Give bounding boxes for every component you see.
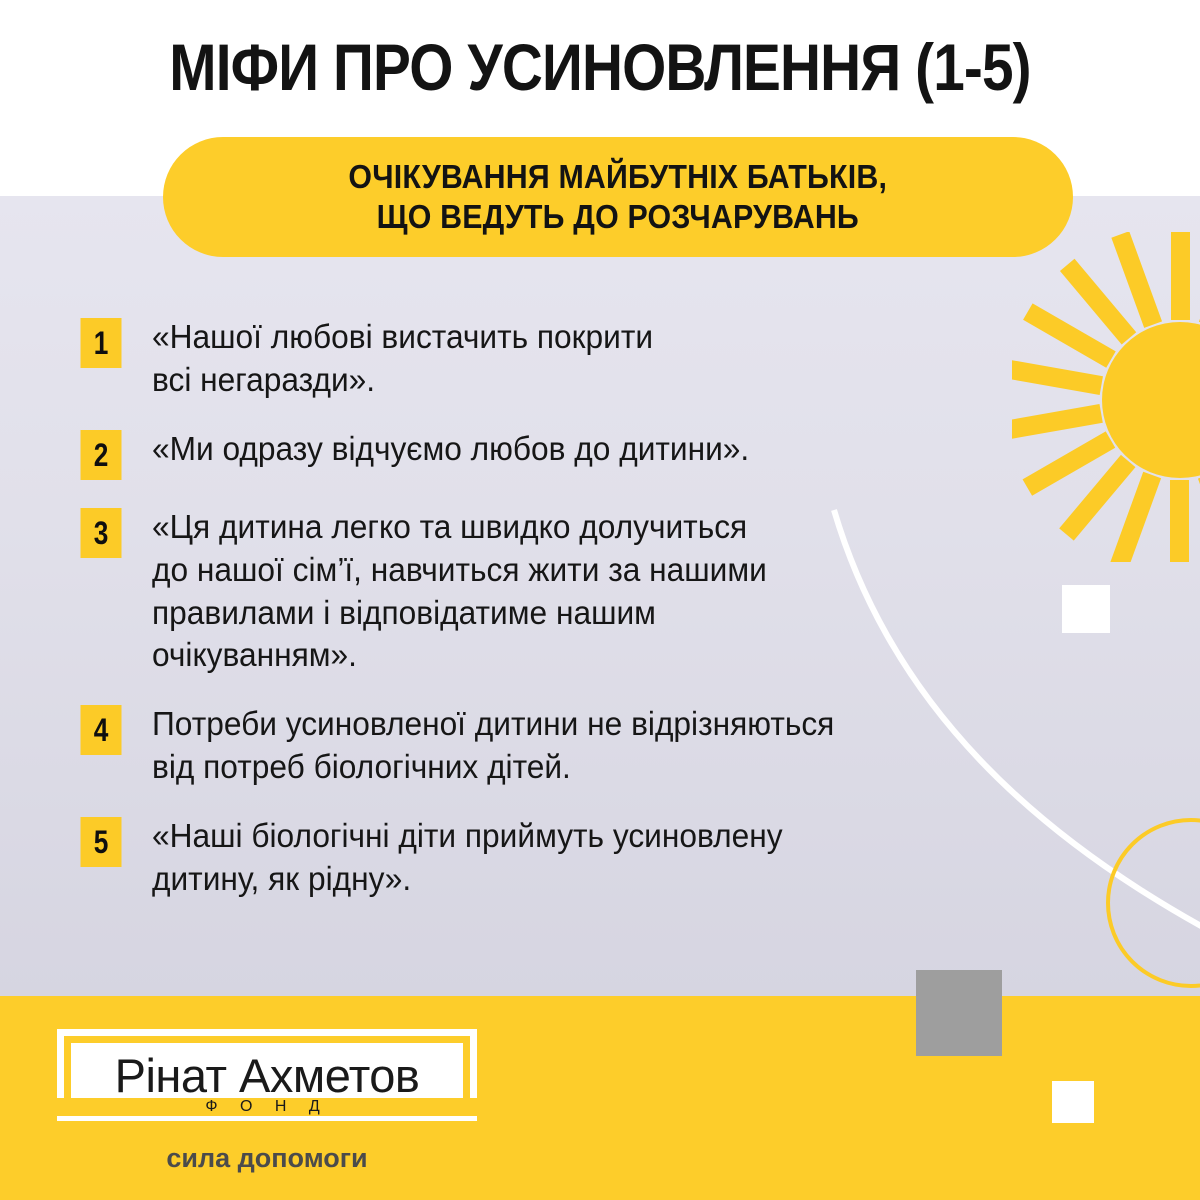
myth-text: «Ця дитина легко та швидко долучиться до…: [152, 506, 1097, 678]
logo-name: Рінат Ахметов: [115, 1052, 420, 1099]
subtitle-banner: ОЧІКУВАННЯ МАЙБУТНІХ БАТЬКІВ, ЩО ВЕДУТЬ …: [163, 137, 1073, 257]
list-item: 3 «Ця дитина легко та швидко долучиться …: [76, 506, 1136, 678]
myth-list: 1 «Нашої любові вистачить покрити всі не…: [76, 316, 1136, 927]
myth-number-badge: 3: [81, 508, 122, 558]
myth-number-badge: 4: [81, 705, 122, 755]
myth-text: Потреби усиновленої дитини не відрізняют…: [152, 703, 1097, 789]
myth-number-badge: 1: [81, 318, 122, 368]
myth-text: «Нашої любові вистачить покрити всі нега…: [152, 316, 1097, 402]
poster-canvas: МІФИ ПРО УСИНОВЛЕННЯ (1-5) ОЧІКУВАННЯ МА…: [0, 0, 1200, 1200]
list-item: 5 «Наші біологічні діти приймуть усиновл…: [76, 815, 1136, 901]
list-item: 1 «Нашої любові вистачить покрити всі не…: [76, 316, 1136, 402]
myth-number-badge: 2: [81, 430, 122, 480]
gray-square-icon: [916, 970, 1002, 1056]
subtitle-line-1: ОЧІКУВАННЯ МАЙБУТНІХ БАТЬКІВ,: [349, 157, 888, 197]
page-title: МІФИ ПРО УСИНОВЛЕННЯ (1-5): [84, 34, 1116, 100]
subtitle-banner-text: ОЧІКУВАННЯ МАЙБУТНІХ БАТЬКІВ, ЩО ВЕДУТЬ …: [349, 157, 888, 238]
myth-number-badge: 5: [81, 817, 122, 867]
logo-subtitle-wrap: Ф О Н Д: [57, 1098, 477, 1116]
list-item: 4 Потреби усиновленої дитини не відрізня…: [76, 703, 1136, 789]
subtitle-line-2: ЩО ВЕДУТЬ ДО РОЗЧАРУВАНЬ: [349, 197, 888, 237]
myth-text: «Ми одразу відчуємо любов до дитини».: [152, 428, 1097, 471]
white-square-footer-icon: [1052, 1081, 1094, 1123]
myth-text: «Наші біологічні діти приймуть усиновлен…: [152, 815, 1097, 901]
footer-tagline: сила допомоги: [57, 1143, 477, 1174]
logo-subtitle: Ф О Н Д: [199, 1098, 334, 1115]
list-item: 2 «Ми одразу відчуємо любов до дитини».: [76, 428, 1136, 480]
